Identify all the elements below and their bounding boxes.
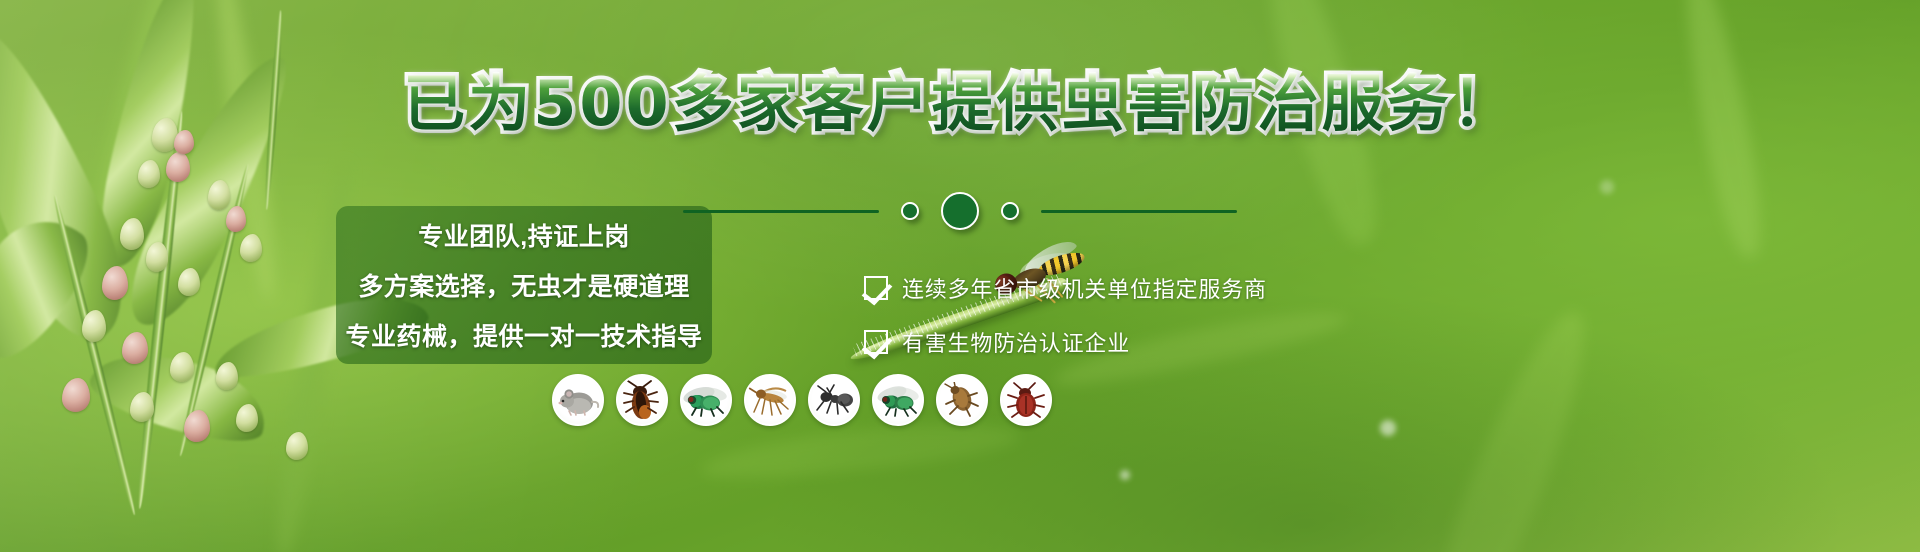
bedbug-icon[interactable]	[1000, 374, 1052, 426]
selling-point-line-3: 专业药械，提供一对一技术指导	[345, 317, 702, 353]
checklist-item: 有害生物防治认证企业	[864, 326, 1267, 358]
bokeh-speck	[1380, 420, 1396, 436]
selling-point-line-2: 多方案选择，无虫才是硬道理	[358, 267, 690, 303]
divider-dot-large	[941, 192, 979, 230]
credentials-checklist: 连续多年省市级机关单位指定服务商 有害生物防治认证企业	[864, 272, 1267, 380]
housefly-icon[interactable]	[872, 374, 924, 426]
pest-type-icons	[552, 374, 1052, 426]
checklist-item: 连续多年省市级机关单位指定服务商	[864, 272, 1267, 304]
divider-line-right	[1041, 210, 1237, 213]
mosquito-icon[interactable]	[744, 374, 796, 426]
headline-text: 已为500多家客户提供虫害防治服务！	[403, 72, 1516, 135]
checklist-item-label: 有害生物防治认证企业	[902, 326, 1130, 358]
divider-dot-small-right	[1001, 202, 1019, 220]
divider-line-left	[683, 210, 879, 213]
divider-dot-small-left	[901, 202, 919, 220]
decorative-divider	[0, 192, 1920, 230]
flea-icon[interactable]	[936, 374, 988, 426]
check-box-icon	[864, 330, 888, 354]
check-box-icon	[864, 276, 888, 300]
ant-icon[interactable]	[808, 374, 860, 426]
headline: 已为500多家客户提供虫害防治服务！ 已为500多家客户提供虫害防治服务！	[0, 72, 1920, 135]
promo-banner: 已为500多家客户提供虫害防治服务！ 已为500多家客户提供虫害防治服务！ 专业…	[0, 0, 1920, 552]
checklist-item-label: 连续多年省市级机关单位指定服务商	[902, 272, 1267, 304]
cockroach-icon[interactable]	[616, 374, 668, 426]
greenbottle-fly-icon[interactable]	[680, 374, 732, 426]
bokeh-speck	[1120, 470, 1130, 480]
rodent-icon[interactable]	[552, 374, 604, 426]
